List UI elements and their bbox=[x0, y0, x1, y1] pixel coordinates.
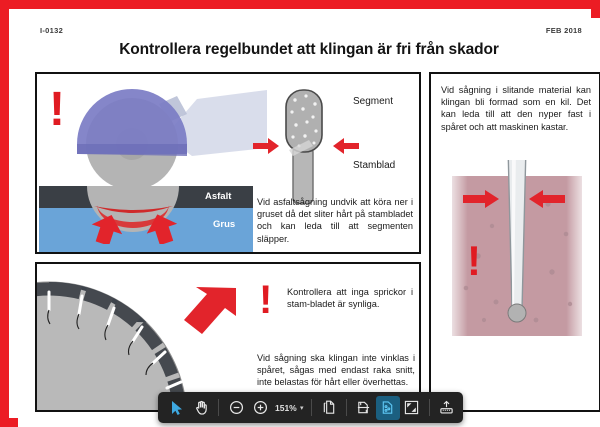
toolbar-divider bbox=[429, 399, 430, 416]
warning-exclamation-icon: ! bbox=[259, 284, 272, 317]
segment-arrow-right-icon bbox=[333, 138, 359, 154]
toolbar-divider bbox=[218, 399, 219, 416]
page-title: Kontrollera regelbundet att klingan är f… bbox=[28, 41, 590, 59]
toolbar-divider bbox=[346, 399, 347, 416]
warning-exclamation-icon: ! bbox=[467, 244, 481, 278]
hand-pan-icon[interactable] bbox=[189, 396, 213, 420]
toolbar-divider bbox=[311, 399, 312, 416]
fit-page-icon[interactable] bbox=[376, 396, 400, 420]
document-code: I-0132 bbox=[40, 26, 63, 35]
cracks-callout-text: Kontrollera att inga sprickor i stam-bla… bbox=[287, 286, 413, 310]
pinch-arrow-right-icon bbox=[529, 190, 565, 208]
segment-label: Segment bbox=[353, 96, 393, 107]
asphalt-cutting-panel: ! bbox=[35, 72, 421, 254]
document-header: I-0132 FEB 2018 bbox=[28, 24, 590, 40]
wedge-panel-text: Vid sågning i slitande material kan klin… bbox=[441, 84, 591, 133]
zoom-in-icon[interactable] bbox=[248, 396, 272, 420]
zoom-out-icon[interactable] bbox=[224, 396, 248, 420]
gravel-layer-label: Grus bbox=[213, 219, 235, 230]
cutting-machine-illustration bbox=[37, 74, 267, 204]
core-blade-label: Stamblad bbox=[353, 160, 395, 171]
blade-cracks-panel: ! Kontrollera att inga sprickor i stam-b… bbox=[35, 262, 421, 412]
document-page-frame: I-0132 FEB 2018 Kontrollera regelbundet … bbox=[0, 0, 600, 427]
copy-pages-icon[interactable] bbox=[317, 396, 341, 420]
cracks-panel-text: Vid sågning ska klingan inte vinklas i s… bbox=[257, 352, 415, 389]
export-upload-icon[interactable] bbox=[435, 396, 459, 420]
chevron-down-icon[interactable]: ▾ bbox=[300, 404, 304, 412]
asphalt-layer-label: Asfalt bbox=[205, 191, 231, 202]
fit-page-break-icon[interactable] bbox=[352, 396, 376, 420]
panel-grid: ! bbox=[35, 72, 600, 412]
wedge-blade-panel: Vid sågning i slitande material kan klin… bbox=[429, 72, 600, 412]
crack-pointer-arrow-icon bbox=[180, 286, 238, 338]
pdf-toolbar: 151% ▾ bbox=[158, 392, 463, 423]
pinch-arrow-left-icon bbox=[463, 190, 499, 208]
document-page: I-0132 FEB 2018 Kontrollera regelbundet … bbox=[18, 18, 600, 427]
segment-closeup-illustration bbox=[275, 84, 339, 204]
document-date: FEB 2018 bbox=[546, 26, 582, 35]
zoom-level-value[interactable]: 151% bbox=[272, 403, 298, 413]
pressure-arrow-left-icon bbox=[89, 214, 123, 244]
asphalt-panel-text: Vid asfaltsågning undvik att köra ner i … bbox=[257, 196, 413, 245]
fit-screen-icon[interactable] bbox=[400, 396, 424, 420]
pdf-viewer: I-0132 FEB 2018 Kontrollera regelbundet … bbox=[0, 0, 600, 427]
segment-arrow-left-icon bbox=[253, 138, 279, 154]
select-cursor-icon[interactable] bbox=[165, 396, 189, 420]
pressure-arrow-right-icon bbox=[144, 214, 178, 244]
